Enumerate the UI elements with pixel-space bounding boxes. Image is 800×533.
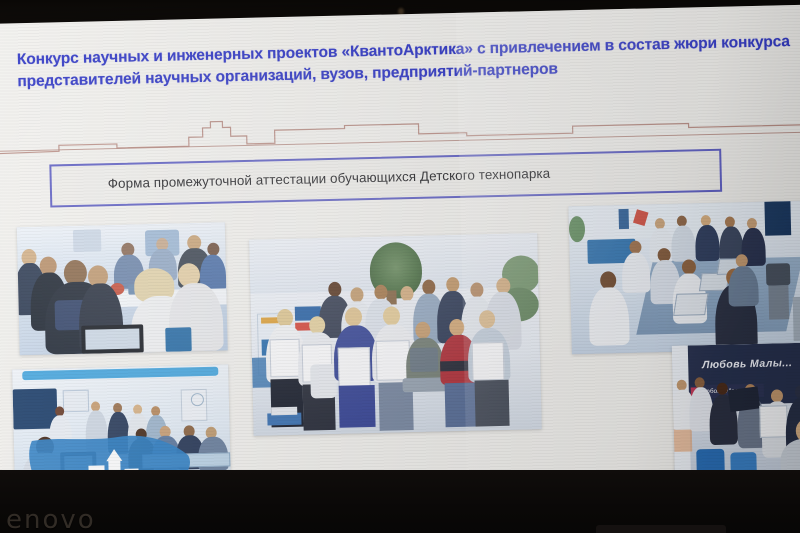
photo-bottom-right: Любовь Малы... Любовь Малыхина <box>672 342 800 474</box>
monitor-brand-label: enovo <box>6 505 96 533</box>
photo-center <box>249 233 542 436</box>
presentation-slide: Конкурс научных и инженерных проектов «К… <box>0 4 800 493</box>
photo-top-right <box>568 200 800 354</box>
slide-title: Конкурс научных и инженерных проектов «К… <box>17 31 800 94</box>
subtitle-box: Форма промежуточной аттестации обучающих… <box>49 149 722 208</box>
presentation-screen-name: Любовь Малы... <box>702 357 792 371</box>
subtitle-text: Форма промежуточной аттестации обучающих… <box>108 166 551 191</box>
monitor-stand-notch <box>596 525 726 533</box>
photo-top-left <box>17 222 228 355</box>
monitor-bezel-bottom <box>0 470 800 533</box>
screenshot-root: Конкурс научных и инженерных проектов «К… <box>0 0 800 533</box>
projected-slide-wrapper: Конкурс научных и инженерных проектов «К… <box>0 4 800 493</box>
